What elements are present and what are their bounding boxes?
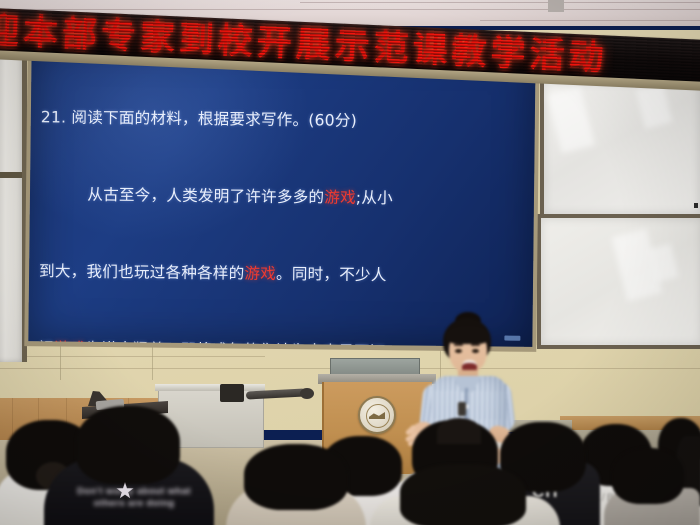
teacher-eye bbox=[455, 349, 462, 353]
whiteboard-marker-dot bbox=[694, 203, 698, 208]
microphone-head-icon bbox=[300, 388, 314, 399]
slide-line-2: 从古至今，人类发明了许许多多的游戏;从小 bbox=[40, 182, 526, 213]
slide-text-block: 21. 阅读下面的材料，根据要求写作。(60分) 从古至今，人类发明了许许多多的… bbox=[32, 54, 527, 347]
right-upper-whiteboard bbox=[540, 78, 700, 218]
teacher-desk-surface bbox=[155, 384, 265, 391]
teacher-eye bbox=[472, 349, 479, 353]
dark-equipment-box bbox=[220, 384, 244, 402]
left-edge-whiteboard bbox=[0, 32, 27, 362]
slide-line-3: 到大，我们也玩过各种各样的游戏。同时，不少人 bbox=[39, 259, 525, 290]
left-whiteboard-divider bbox=[0, 172, 22, 178]
school-emblem bbox=[358, 396, 396, 434]
slide-line-1: 21. 阅读下面的材料，根据要求写作。(60分) bbox=[41, 105, 527, 136]
right-lower-whiteboard bbox=[537, 214, 700, 349]
classroom-scene: 21. 阅读下面的材料，根据要求写作。(60分) 从古至今，人类发明了许许多多的… bbox=[0, 0, 700, 525]
ceiling-fixture bbox=[548, 0, 564, 12]
projection-screen: 21. 阅读下面的材料，根据要求写作。(60分) 从古至今，人类发明了许许多多的… bbox=[28, 42, 535, 347]
teacher-fringe bbox=[446, 326, 490, 344]
student-tee-print: Don't worry about what others are doing bbox=[70, 486, 198, 525]
clip-on-microphone bbox=[458, 402, 466, 416]
